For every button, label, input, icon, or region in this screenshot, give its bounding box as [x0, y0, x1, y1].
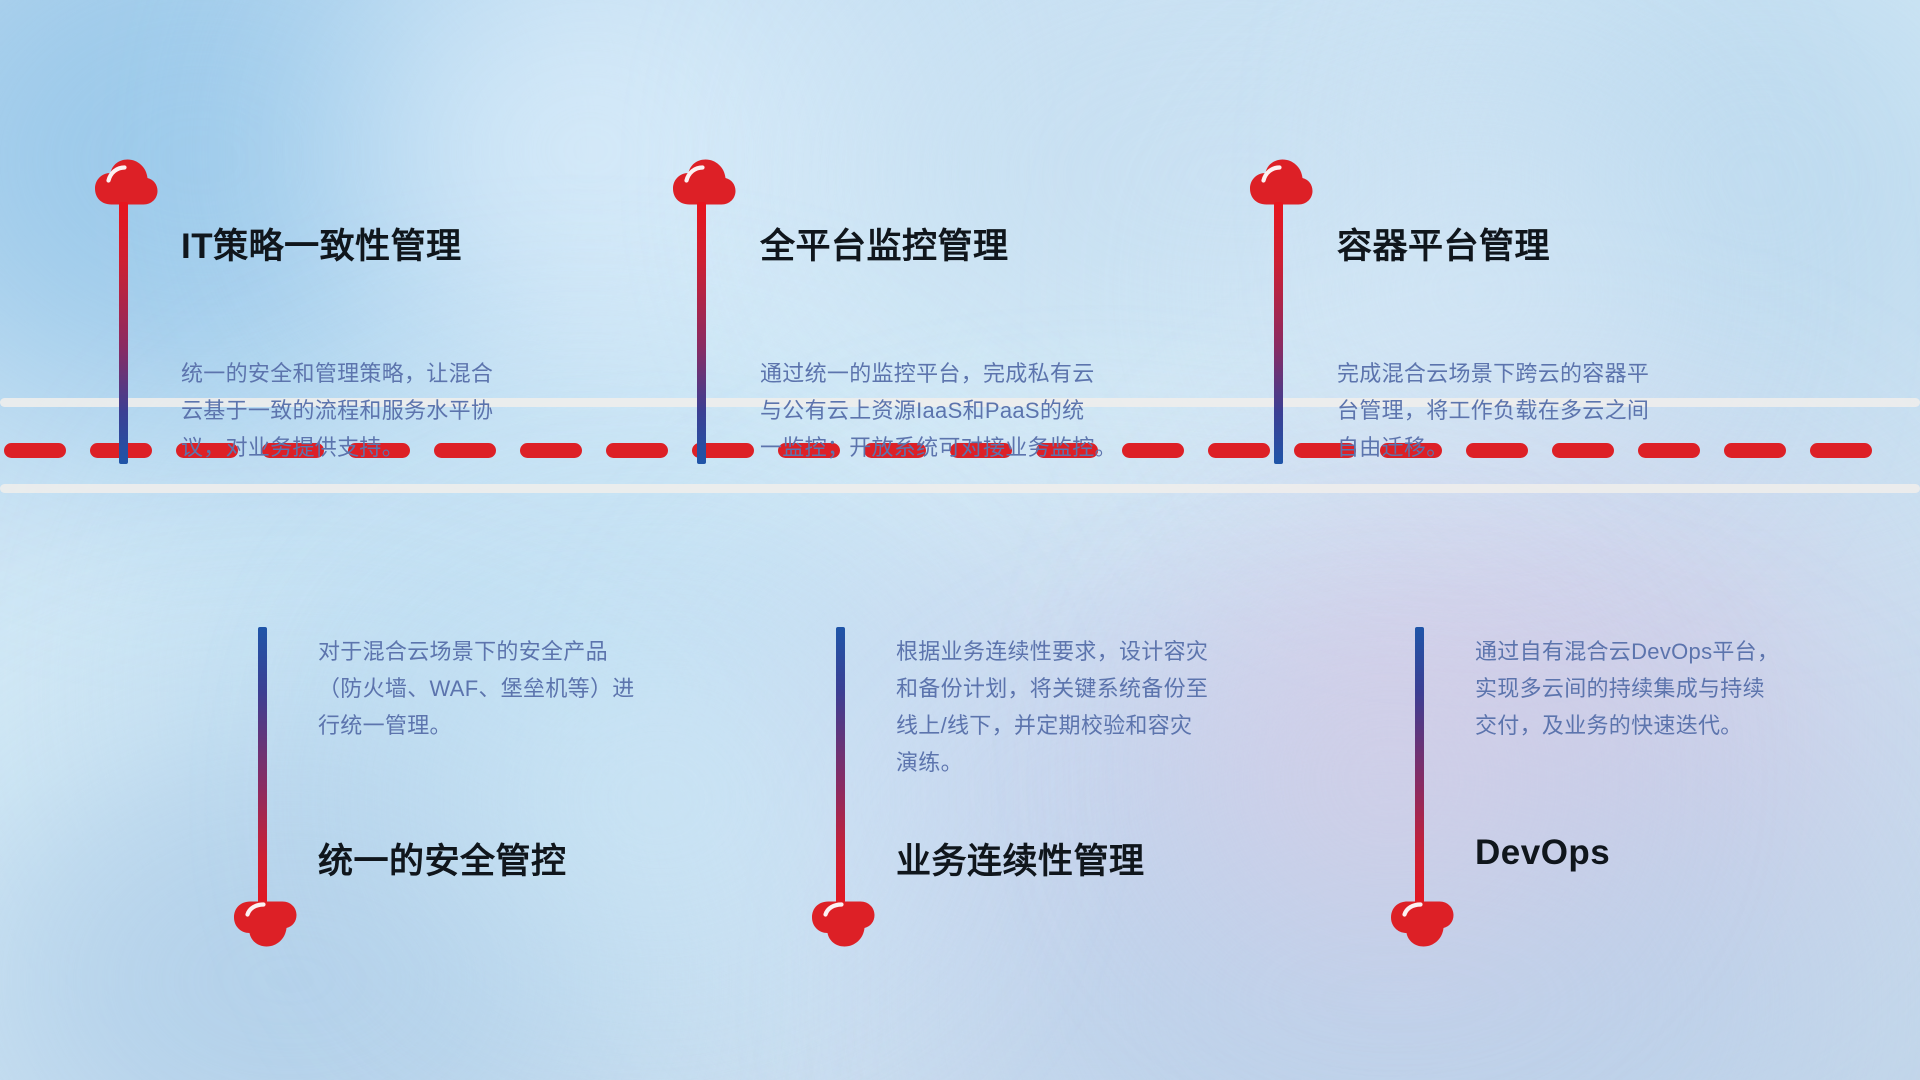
feature-title: 业务连续性管理 — [896, 833, 1145, 884]
dash-segment — [1208, 443, 1270, 458]
connector-stem — [1274, 202, 1283, 464]
dash-segment — [1810, 443, 1872, 458]
feature-description: 对于混合云场景下的安全产品 （防火墙、WAF、堡垒机等）进 行统一管理。 — [318, 633, 748, 744]
feature-description: 通过统一的监控平台，完成私有云 与公有云上资源IaaS和PaaS的统 一监控；开… — [760, 355, 1200, 466]
feature-description: 通过自有混合云DevOps平台， 实现多云间的持续集成与持续 交付，及业务的快速… — [1475, 633, 1905, 744]
cloud-icon — [810, 900, 876, 948]
feature-title: DevOps — [1475, 833, 1610, 873]
cloud-icon — [93, 158, 159, 206]
feature-title: 容器平台管理 — [1337, 218, 1550, 269]
cloud-icon — [232, 900, 298, 948]
cloud-icon — [1248, 158, 1314, 206]
connector-stem — [836, 627, 845, 917]
feature-title: 全平台监控管理 — [760, 218, 1009, 269]
cloud-icon — [1389, 900, 1455, 948]
dash-segment — [4, 443, 66, 458]
feature-description: 统一的安全和管理策略，让混合 云基于一致的流程和服务水平协 议，对业务提供支持。 — [181, 355, 611, 466]
connector-stem — [697, 202, 706, 464]
connector-stem — [119, 202, 128, 464]
feature-title: 统一的安全管控 — [318, 833, 567, 884]
connector-stem — [1415, 627, 1424, 917]
cloud-icon — [671, 158, 737, 206]
feature-description: 根据业务连续性要求，设计容灾 和备份计划，将关键系统备份至 线上/线下，并定期校… — [896, 633, 1326, 781]
feature-title: IT策略一致性管理 — [181, 218, 462, 269]
dash-segment — [606, 443, 668, 458]
feature-description: 完成混合云场景下跨云的容器平 台管理，将工作负载在多云之间 自由迁移。 — [1337, 355, 1767, 466]
connector-stem — [258, 627, 267, 917]
divider-line-lower — [0, 484, 1920, 493]
